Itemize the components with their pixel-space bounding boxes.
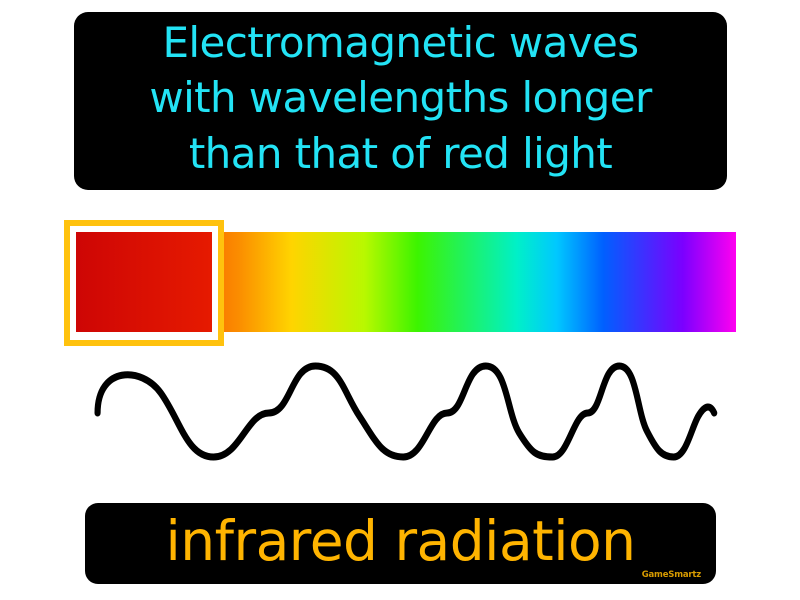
wave-svg	[80, 360, 730, 470]
watermark-gamesmartz: GameSmartz	[642, 570, 701, 580]
selection-box-inner-border	[70, 226, 218, 340]
wave-illustration	[80, 360, 730, 470]
term-label: infrared radiation	[165, 514, 635, 569]
term-card: infrared radiation GameSmartz	[85, 503, 716, 584]
spectrum-diagram	[64, 220, 744, 346]
wave-path	[98, 366, 715, 457]
definition-card: Electromagnetic waves with wavelengths l…	[74, 12, 727, 190]
red-end-selection-box	[64, 220, 224, 346]
definition-text: Electromagnetic waves with wavelengths l…	[149, 15, 651, 181]
